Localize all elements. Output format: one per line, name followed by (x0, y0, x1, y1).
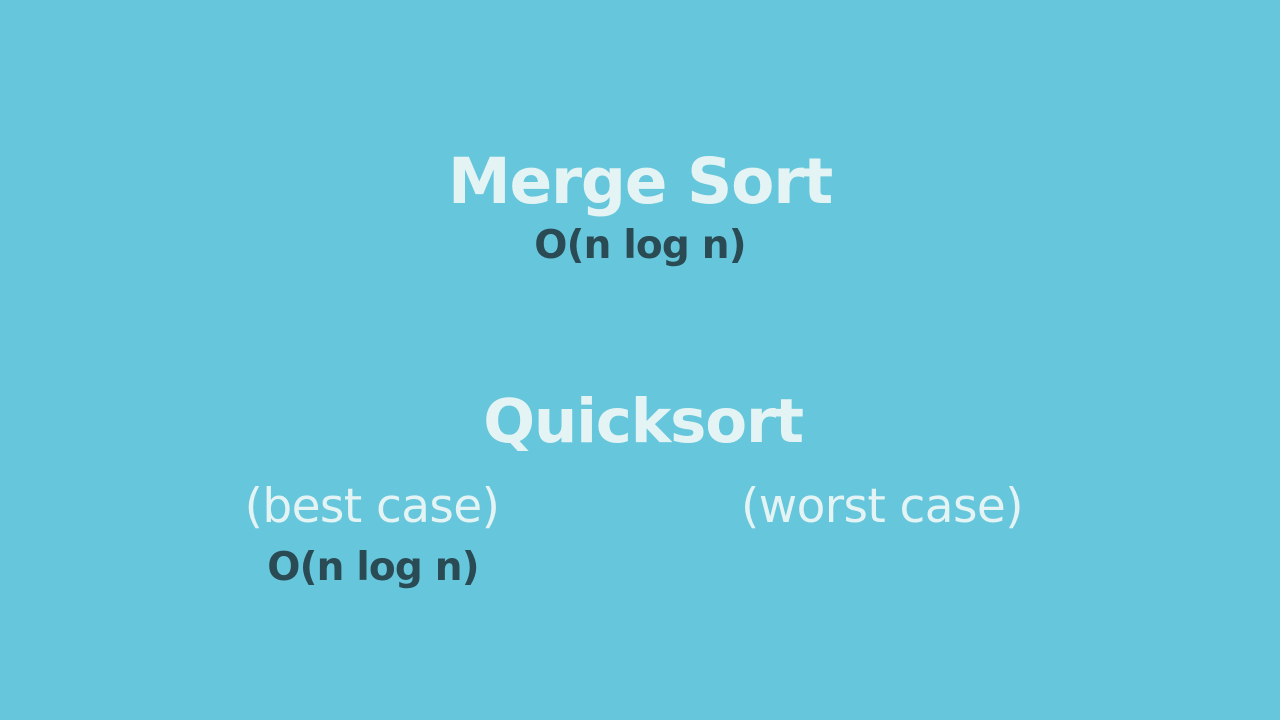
quicksort-best-case-complexity: O(n log n) (267, 548, 479, 587)
slide-canvas: Merge Sort O(n log n) Quicksort (best ca… (0, 0, 1280, 720)
merge-sort-title: Merge Sort (448, 150, 832, 213)
quicksort-title: Quicksort (483, 391, 803, 452)
quicksort-worst-case-label: (worst case) (741, 483, 1023, 530)
quicksort-best-case-label: (best case) (245, 483, 500, 530)
merge-sort-complexity: O(n log n) (534, 226, 746, 265)
